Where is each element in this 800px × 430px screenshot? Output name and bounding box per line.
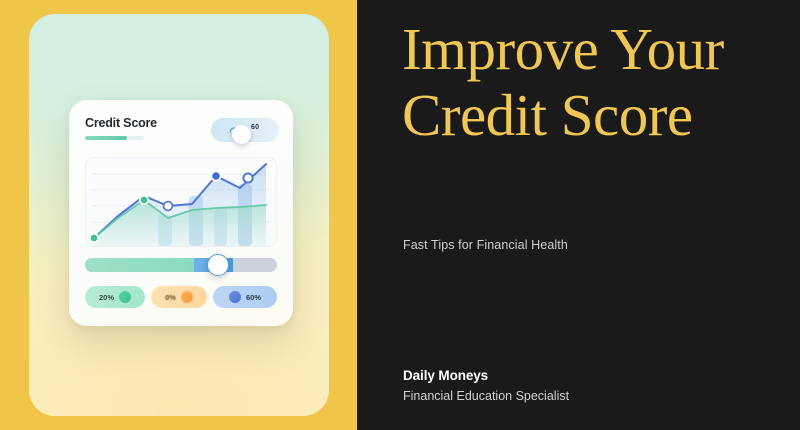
chart-marker-blue-filled (211, 171, 220, 180)
chart-marker-green-2 (140, 196, 148, 204)
card-header: Credit Score 60 (85, 116, 279, 150)
pill-green-label: 20% (99, 293, 114, 302)
pill-green-dot-icon (119, 291, 131, 303)
headline: Improve Your Credit Score (402, 16, 782, 148)
score-slider[interactable] (85, 258, 277, 272)
pill-orange[interactable]: 0% (151, 286, 207, 308)
score-badge[interactable]: 60 (211, 118, 279, 142)
presenter-role: Financial Education Specialist (403, 389, 569, 403)
slider-fill-green (85, 258, 194, 272)
pill-green[interactable]: 20% (85, 286, 145, 308)
pill-blue-dot-icon (229, 291, 241, 303)
chart-marker-blue-hollow-1 (164, 202, 173, 211)
credit-score-card: Credit Score 60 (69, 100, 293, 326)
mini-progress-track (85, 136, 144, 140)
chart-svg (86, 158, 276, 246)
badge-knob[interactable] (232, 125, 251, 144)
subtitle: Fast Tips for Financial Health (403, 238, 568, 252)
pill-orange-label: 0% (165, 293, 176, 302)
pill-orange-dot-icon (181, 291, 193, 303)
chart-marker-green-1 (90, 234, 98, 242)
metric-pills: 20% 0% 60% (85, 286, 277, 308)
presenter-name: Daily Moneys (403, 368, 569, 383)
slider-knob[interactable] (207, 254, 229, 276)
score-chart (85, 157, 277, 247)
badge-value: 60 (251, 124, 259, 131)
chart-marker-blue-hollow-2 (243, 173, 252, 182)
right-text-panel: Improve Your Credit Score Fast Tips for … (357, 0, 800, 430)
left-visual-panel: Credit Score 60 (0, 0, 357, 430)
mini-progress-fill (85, 136, 127, 140)
pill-blue-label: 60% (246, 293, 261, 302)
slide-canvas: Credit Score 60 (0, 0, 800, 430)
pill-blue[interactable]: 60% (213, 286, 277, 308)
presenter-block: Daily Moneys Financial Education Special… (403, 368, 569, 403)
